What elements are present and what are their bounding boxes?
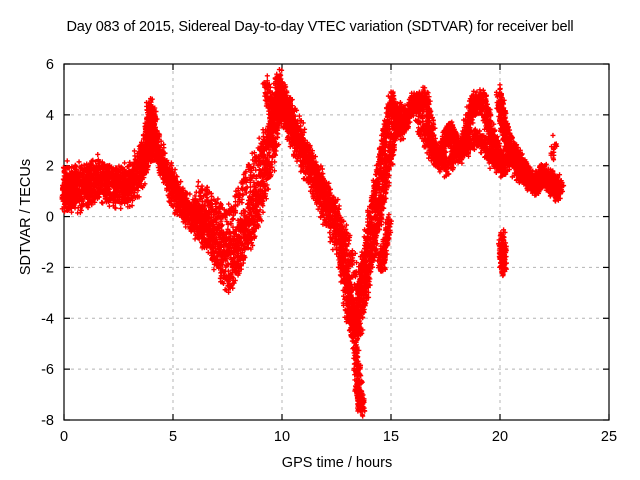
y-tick-label: -6 — [41, 362, 54, 378]
x-tick-label: 0 — [60, 429, 68, 445]
x-tick-label: 25 — [601, 429, 617, 445]
plot-canvas: -8-6-4-20246 0510152025 — [0, 0, 640, 480]
chart-container: Day 083 of 2015, Sidereal Day-to-day VTE… — [0, 0, 640, 480]
y-tick-label: 0 — [46, 210, 54, 226]
y-tick-label: -8 — [41, 413, 54, 429]
x-tick-label: 10 — [274, 429, 290, 445]
y-tick-label: 6 — [46, 57, 54, 73]
data-series-sdtvar — [60, 67, 567, 419]
x-tick-label: 5 — [169, 429, 177, 445]
y-tick-label: -4 — [41, 311, 54, 327]
x-tick-label: 15 — [383, 429, 399, 445]
y-tick-label: 2 — [46, 159, 54, 175]
y-tick-label: 4 — [46, 108, 54, 124]
y-tick-label: -2 — [41, 260, 54, 276]
x-tick-label: 20 — [492, 429, 508, 445]
y-tick-group: -8-6-4-20246 — [41, 57, 609, 429]
